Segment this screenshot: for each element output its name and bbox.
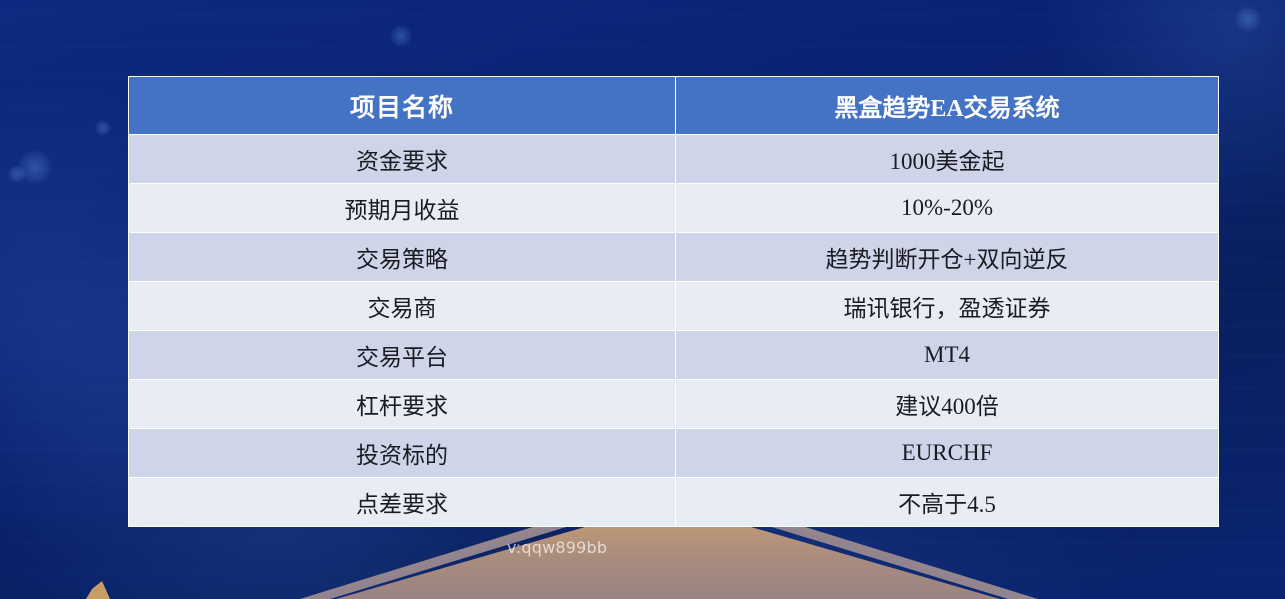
row-value: 不高于4.5 (676, 478, 1219, 527)
header-cell-system-name: 黑盒趋势EA交易系统 (676, 77, 1219, 135)
row-value: 瑞讯银行，盈透证券 (676, 282, 1219, 331)
row-value: 10%-20% (676, 184, 1219, 233)
table-row: 预期月收益 10%-20% (129, 184, 1219, 233)
row-value: 趋势判断开仓+双向逆反 (676, 233, 1219, 282)
watermark-text: v:qqw899bb (507, 538, 607, 557)
table-row: 投资标的 EURCHF (129, 429, 1219, 478)
bokeh-circle (1235, 6, 1261, 32)
spec-table: 项目名称 黑盒趋势EA交易系统 资金要求 1000美金起 预期月收益 10%-2… (128, 76, 1219, 527)
slide-canvas: v:qqw899bb 项目名称 黑盒趋势EA交易系统 资金要求 1000美金起 … (0, 0, 1285, 599)
row-value: 1000美金起 (676, 135, 1219, 184)
table-row: 交易商 瑞讯银行，盈透证券 (129, 282, 1219, 331)
bokeh-circle (390, 25, 412, 47)
row-value: MT4 (676, 331, 1219, 380)
row-label: 预期月收益 (129, 184, 676, 233)
table-row: 杠杆要求 建议400倍 (129, 380, 1219, 429)
table-row: 资金要求 1000美金起 (129, 135, 1219, 184)
row-label: 交易平台 (129, 331, 676, 380)
bokeh-circle (8, 165, 26, 183)
table-header-row: 项目名称 黑盒趋势EA交易系统 (129, 77, 1219, 135)
row-value: EURCHF (676, 429, 1219, 478)
row-label: 交易商 (129, 282, 676, 331)
table-row: 点差要求 不高于4.5 (129, 478, 1219, 527)
row-label: 资金要求 (129, 135, 676, 184)
row-label: 投资标的 (129, 429, 676, 478)
header-cell-item-name: 项目名称 (129, 77, 676, 135)
spec-table-container: 项目名称 黑盒趋势EA交易系统 资金要求 1000美金起 预期月收益 10%-2… (128, 76, 1218, 502)
row-value: 建议400倍 (676, 380, 1219, 429)
table-row: 交易平台 MT4 (129, 331, 1219, 380)
row-label: 点差要求 (129, 478, 676, 527)
bokeh-circle (95, 120, 111, 136)
row-label: 杠杆要求 (129, 380, 676, 429)
row-label: 交易策略 (129, 233, 676, 282)
table-row: 交易策略 趋势判断开仓+双向逆反 (129, 233, 1219, 282)
